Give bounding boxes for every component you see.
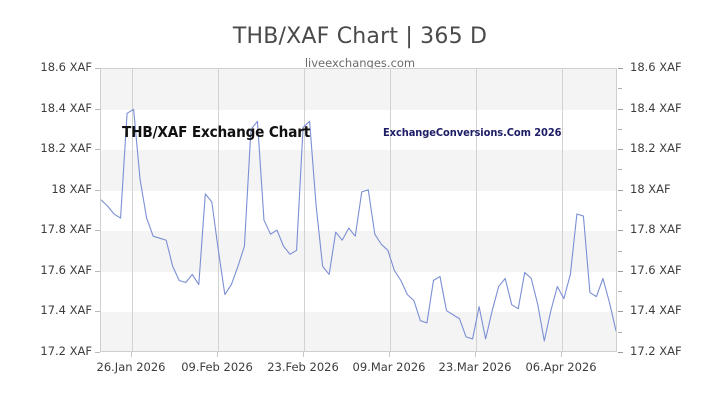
y-axis-left-tick-4 xyxy=(95,230,100,231)
x-axis-tick-0 xyxy=(131,352,132,357)
price-line-series xyxy=(101,69,616,351)
x-axis-label-3: 09.Mar 2026 xyxy=(353,360,426,374)
x-axis-tick-3 xyxy=(389,352,390,357)
y-axis-right-tick-0 xyxy=(618,68,623,69)
page-title: THB/XAF Chart | 365 D xyxy=(0,24,720,49)
y-axis-right-label-1: 18.4 XAF xyxy=(630,101,682,115)
y-axis-right-label-5: 17.6 XAF xyxy=(630,263,682,277)
y-axis-right-tick-7 xyxy=(618,352,623,353)
chart-watermark-left: THB/XAF Exchange Chart xyxy=(122,123,310,141)
y-axis-left-label-4: 17.8 XAF xyxy=(0,222,92,236)
y-axis-right-tick-3 xyxy=(618,190,623,191)
y-axis-right-tick-1 xyxy=(618,109,623,110)
y-axis-left-tick-0 xyxy=(95,68,100,69)
y-axis-left-tick-7 xyxy=(95,352,100,353)
x-axis-label-0: 26.Jan 2026 xyxy=(97,360,166,374)
y-axis-right-label-0: 18.6 XAF xyxy=(630,60,682,74)
y-axis-right-tick-4 xyxy=(618,230,623,231)
y-axis-right-label-2: 18.2 XAF xyxy=(630,141,682,155)
y-axis-right-tick-2 xyxy=(618,149,623,150)
y-axis-left-label-7: 17.2 XAF xyxy=(0,344,92,358)
y-axis-right-minor-tick-1 xyxy=(618,129,622,130)
y-axis-left-tick-3 xyxy=(95,190,100,191)
y-axis-left-label-0: 18.6 XAF xyxy=(0,60,92,74)
chart-watermark-right: ExchangeConversions.Com 2026 xyxy=(383,126,561,139)
y-axis-left-label-1: 18.4 XAF xyxy=(0,101,92,115)
y-axis-right-tick-5 xyxy=(618,271,623,272)
y-axis-right-minor-tick-0 xyxy=(618,88,622,89)
y-axis-right-minor-tick-3 xyxy=(618,210,622,211)
y-axis-left-tick-6 xyxy=(95,311,100,312)
y-axis-right-label-7: 17.2 XAF xyxy=(630,344,682,358)
y-axis-left-tick-1 xyxy=(95,109,100,110)
y-axis-right-minor-tick-6 xyxy=(618,332,622,333)
x-axis-label-4: 23.Mar 2026 xyxy=(439,360,512,374)
y-axis-left-label-2: 18.2 XAF xyxy=(0,141,92,155)
y-axis-left-tick-2 xyxy=(95,149,100,150)
x-axis-tick-4 xyxy=(475,352,476,357)
plot-area xyxy=(100,68,617,352)
y-axis-left-label-5: 17.6 XAF xyxy=(0,263,92,277)
y-axis-right-minor-tick-2 xyxy=(618,169,622,170)
chart-page: THB/XAF Chart | 365 D liveexchanges.com … xyxy=(0,0,720,405)
x-axis-tick-5 xyxy=(561,352,562,357)
y-axis-right-tick-6 xyxy=(618,311,623,312)
x-axis-tick-1 xyxy=(217,352,218,357)
y-axis-right-minor-tick-5 xyxy=(618,291,622,292)
y-axis-right-label-6: 17.4 XAF xyxy=(630,303,682,317)
x-axis-label-1: 09.Feb 2026 xyxy=(181,360,253,374)
y-axis-left-tick-5 xyxy=(95,271,100,272)
y-axis-right-label-4: 17.8 XAF xyxy=(630,222,682,236)
y-axis-left-label-3: 18 XAF xyxy=(0,182,92,196)
x-axis-label-2: 23.Feb 2026 xyxy=(267,360,339,374)
x-axis-label-5: 06.Apr 2026 xyxy=(525,360,596,374)
y-axis-left-label-6: 17.4 XAF xyxy=(0,303,92,317)
x-axis-tick-2 xyxy=(303,352,304,357)
y-axis-right-label-3: 18 XAF xyxy=(630,182,671,196)
y-axis-right-minor-tick-4 xyxy=(618,251,622,252)
